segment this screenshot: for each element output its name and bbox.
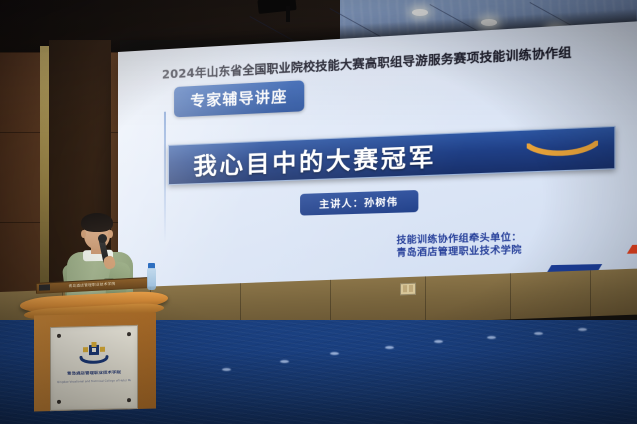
floor-light-reflection (385, 346, 394, 349)
floor-light-reflection (330, 352, 339, 355)
plaque-institution-subtitle: Qingdao Vocational and Technical College… (57, 378, 131, 384)
projection-screen: 2024年山东省全国职业院校技能大赛高职组导游服务赛项技能训练协作组 专家辅导讲… (118, 18, 637, 296)
floor-light-reflection (434, 340, 443, 343)
wall-accent-strip (40, 46, 49, 316)
podium: 青岛酒店管理职业技术学院 青岛酒店管理职业技术学院 Qingdao Vocati… (20, 286, 168, 424)
slide-speaker-badge: 主讲人：孙树伟 (300, 190, 418, 216)
wall-power-outlet (400, 283, 416, 296)
podium-badge-icon (39, 284, 50, 291)
slide-header-text: 2024年山东省全国职业院校技能大赛高职组导游服务赛项技能训练协作组 (162, 38, 637, 83)
podium-emblem-plaque: 青岛酒店管理职业技术学院 Qingdao Vocational and Tech… (50, 325, 138, 411)
slide-organizer-block: 技能训练协作组牵头单位： 青岛酒店管理职业技术学院 (397, 231, 522, 260)
slide-title-bar: 我心目中的大赛冠军 (168, 126, 616, 185)
presenter-hair (81, 213, 113, 232)
plaque-screw (127, 332, 131, 336)
ceiling-spotlight (481, 19, 497, 26)
plaque-institution-text: 青岛酒店管理职业技术学院 (57, 370, 131, 378)
decorative-red-parallelogram (627, 244, 637, 254)
plaque-screw (57, 400, 61, 404)
slide-expert-lecture-badge: 专家辅导讲座 (174, 80, 304, 117)
conference-hall-photo: 2024年山东省全国职业院校技能大赛高职组导游服务赛项技能训练协作组 专家辅导讲… (0, 0, 637, 424)
presenter-ear (81, 230, 86, 238)
floor-light-reflection (487, 336, 496, 339)
organizer-name: 青岛酒店管理职业技术学院 (397, 244, 522, 260)
slide-main-title: 我心目中的大赛冠军 (193, 137, 436, 182)
floor-light-reflection (280, 360, 289, 363)
microphone-head-icon (98, 234, 107, 243)
floor-light-reflection (222, 368, 231, 371)
institution-crest-icon (77, 341, 111, 368)
floor-light-reflection (578, 328, 587, 331)
plaque-screw (127, 398, 131, 402)
projector-arm (286, 6, 290, 22)
plaque-screw (57, 334, 61, 338)
ceiling-spotlight (412, 9, 428, 16)
floor-light-reflection (534, 332, 543, 335)
slide-accent-vertical-line (164, 112, 166, 243)
water-bottle (147, 268, 156, 290)
gold-swoosh-icon (527, 141, 598, 159)
presenter-ear (108, 230, 113, 238)
